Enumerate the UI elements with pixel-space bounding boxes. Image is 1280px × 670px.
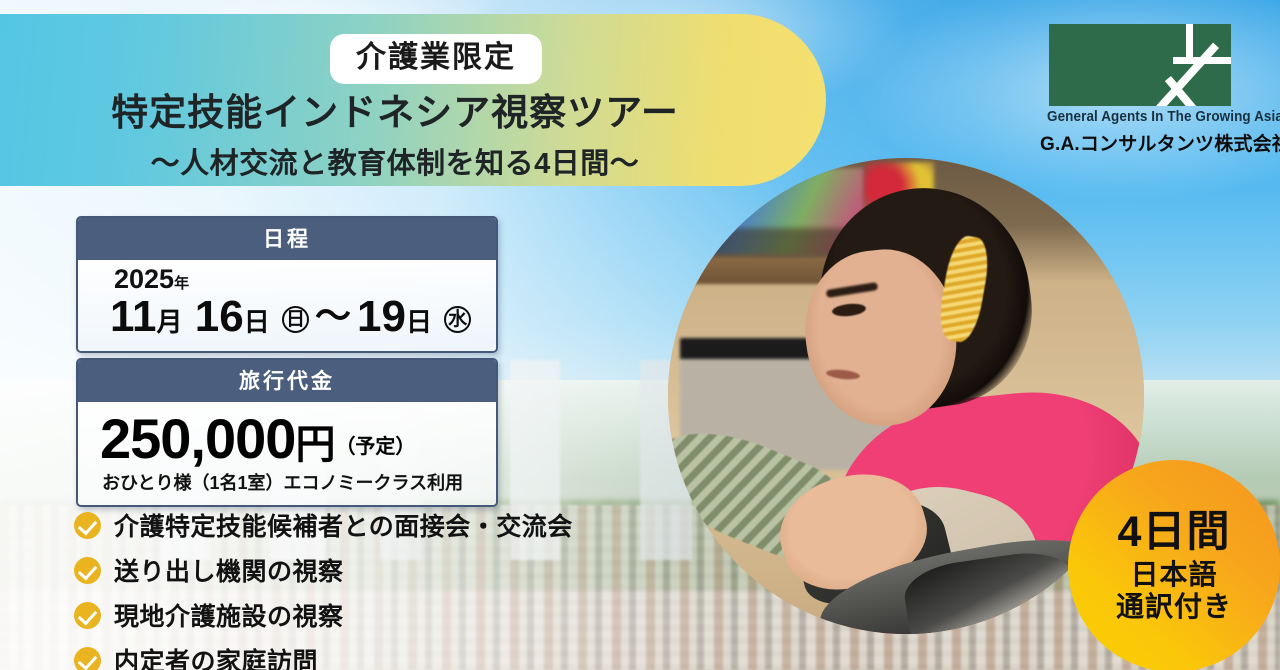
check-circle-icon	[74, 647, 101, 670]
schedule-month: 11	[110, 292, 157, 341]
duration-badge-main: 4日間	[1118, 510, 1231, 555]
list-item: 現地介護施設の視察	[74, 597, 573, 633]
price-box-heading: 旅行代金	[78, 360, 496, 402]
list-item-label: 送り出し機関の視察	[114, 552, 344, 588]
price-subnote: おひとり様（1名1室）エコノミークラス利用	[102, 469, 486, 495]
price-amount-row: 250,000円（予定）	[100, 410, 486, 467]
industry-badge: 介護業限定	[330, 34, 542, 84]
price-box: 旅行代金 250,000円（予定） おひとり様（1名1室）エコノミークラス利用	[76, 358, 498, 507]
company-logo: General Agents In The Growing Asia G.A.コ…	[1040, 24, 1240, 156]
price-amount: 250,000	[100, 407, 295, 470]
schedule-end-dow: 水	[444, 306, 471, 333]
schedule-end-day-unit: 日	[406, 307, 432, 337]
schedule-end-day: 19	[357, 292, 406, 341]
price-currency: 円	[295, 423, 335, 467]
schedule-start-day: 16	[195, 292, 244, 341]
schedule-year: 2025年	[114, 266, 486, 293]
schedule-start-day-unit: 日	[244, 307, 270, 337]
promo-poster: 介護業限定 特定技能インドネシア視察ツアー 〜人材交流と教育体制を知る4日間〜 …	[0, 0, 1280, 670]
list-item: 送り出し機関の視察	[74, 552, 573, 588]
price-note: （予定）	[335, 436, 415, 458]
schedule-start-dow: 日	[282, 306, 309, 333]
list-item: 内定者の家庭訪問	[74, 642, 573, 670]
feature-checklist: 介護特定技能候補者との面接会・交流会 送り出し機関の視察 現地介護施設の視察 内…	[74, 507, 573, 670]
page-title: 特定技能インドネシア視察ツアー	[0, 93, 790, 134]
list-item: 介護特定技能候補者との面接会・交流会	[74, 507, 573, 543]
schedule-separator: 〜	[309, 295, 357, 336]
list-item-label: 現地介護施設の視察	[114, 597, 344, 633]
check-circle-icon	[74, 512, 101, 539]
check-circle-icon	[74, 602, 101, 629]
schedule-box: 日程 2025年 11月 16日 日〜19日 水	[76, 216, 498, 353]
price-box-body: 250,000円（予定） おひとり様（1名1室）エコノミークラス利用	[78, 402, 496, 505]
schedule-year-unit: 年	[174, 275, 189, 292]
list-item-label: 内定者の家庭訪問	[114, 642, 318, 670]
schedule-range: 11月 16日 日〜19日 水	[110, 294, 486, 341]
logo-tagline: General Agents In The Growing Asia	[1047, 109, 1233, 125]
ga-logo-mark-icon	[1049, 24, 1231, 106]
duration-badge-line2: 通訳付き	[1116, 591, 1232, 622]
duration-badge: 4日間 日本語 通訳付き	[1068, 460, 1280, 670]
logo-company-name: G.A.コンサルタンツ株式会社	[1040, 129, 1240, 156]
schedule-year-value: 2025	[114, 264, 174, 294]
schedule-box-heading: 日程	[78, 218, 496, 260]
schedule-box-body: 2025年 11月 16日 日〜19日 水	[78, 260, 496, 351]
page-subtitle: 〜人材交流と教育体制を知る4日間〜	[0, 140, 790, 182]
schedule-month-unit: 月	[157, 307, 183, 337]
list-item-label: 介護特定技能候補者との面接会・交流会	[114, 507, 573, 543]
check-circle-icon	[74, 557, 101, 584]
duration-badge-line1: 日本語	[1130, 559, 1217, 590]
